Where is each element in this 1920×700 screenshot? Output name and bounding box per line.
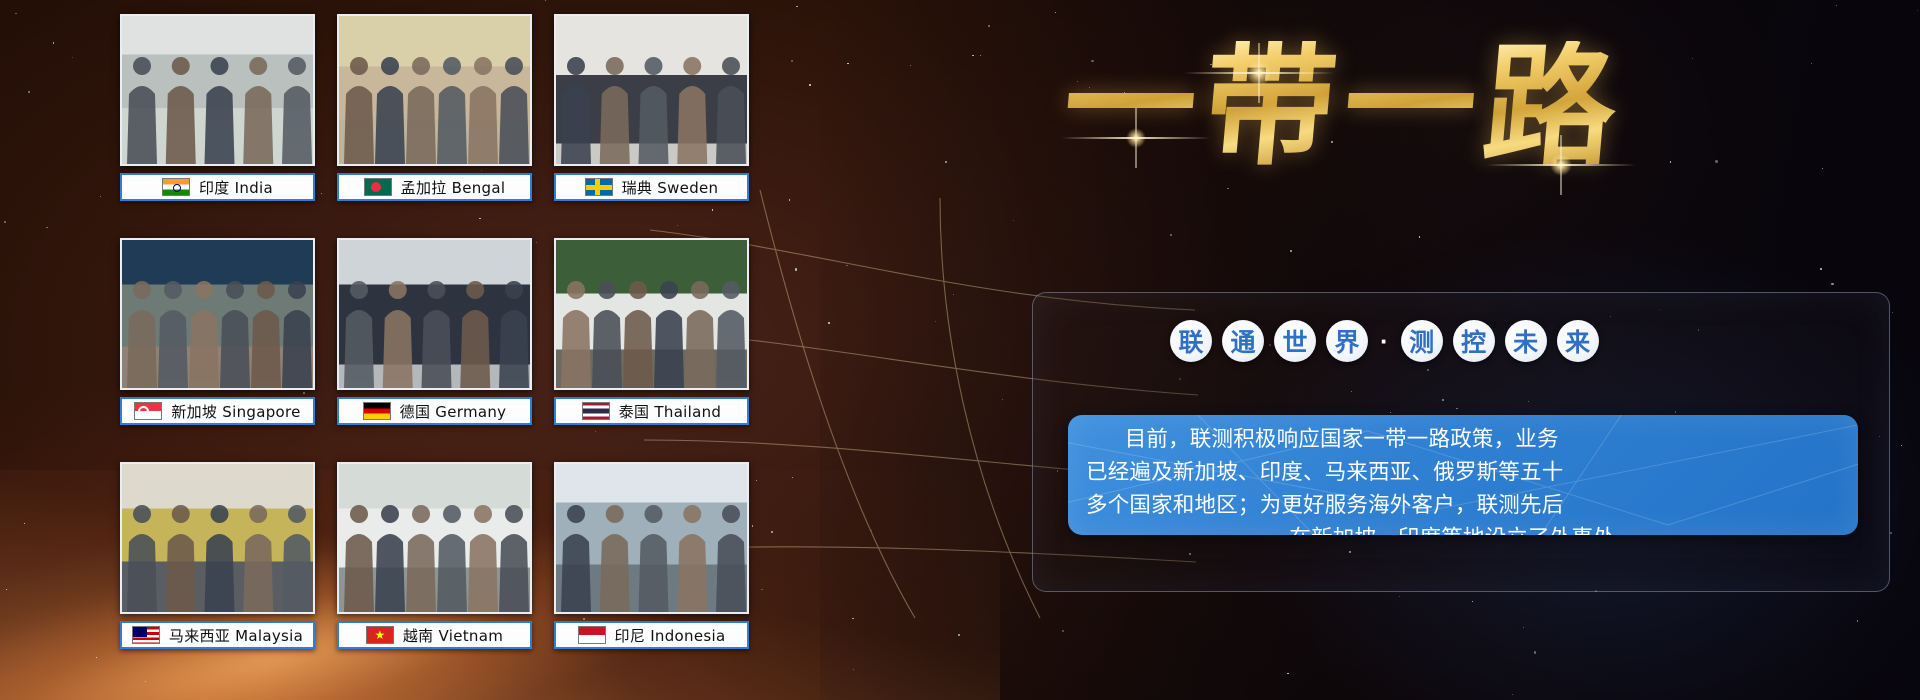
star — [791, 60, 793, 62]
sparkle-star-3 — [1550, 154, 1572, 176]
star — [100, 196, 101, 197]
group-photo-singapore — [120, 238, 315, 390]
star — [28, 91, 30, 93]
star — [1836, 5, 1837, 6]
photo-caption-bengal: 孟加拉 Bengal — [337, 173, 532, 201]
sparkle-star-2 — [1126, 128, 1146, 148]
photo-card-malaysia[interactable]: 马来西亚 Malaysia — [120, 462, 315, 672]
photo-image — [556, 16, 747, 164]
caption-label: 德国 Germany — [400, 401, 507, 422]
people-silhouettes — [339, 14, 532, 164]
group-photo-sweden — [554, 14, 749, 166]
slogan-char-3: 世 — [1274, 320, 1316, 362]
star — [1901, 445, 1903, 447]
star — [96, 657, 97, 658]
star — [847, 63, 849, 65]
photo-caption-vietnam: 越南 Vietnam — [337, 621, 532, 649]
star — [910, 65, 911, 66]
star — [1512, 694, 1513, 695]
photo-card-sweden[interactable]: 瑞典 Sweden — [554, 14, 749, 224]
people-silhouettes — [339, 462, 532, 612]
star — [972, 55, 973, 56]
title-char-1: 一 — [1058, 41, 1202, 173]
flag-vietnam-icon — [366, 626, 394, 644]
flag-thailand-icon — [582, 402, 610, 420]
caption-label: 新加坡 Singapore — [171, 401, 300, 422]
star — [1890, 532, 1892, 534]
description-line-2: 已经遍及新加坡、印度、马来西亚、俄罗斯等五十 — [1086, 456, 1840, 489]
caption-label: 印尼 Indonesia — [615, 625, 726, 646]
star — [53, 42, 54, 43]
people-silhouettes — [339, 238, 532, 388]
description-line-1: 目前，联测积极响应国家一带一路政策，业务 — [1086, 423, 1840, 456]
slogan-separator-dot: · — [1378, 326, 1391, 357]
star — [1062, 630, 1063, 631]
star — [1287, 673, 1288, 674]
star — [1170, 234, 1172, 236]
slogan-bar: 联通世界·测控未来 联通世界·测控未来 — [1170, 320, 1599, 362]
photo-caption-india: 印度 India — [120, 173, 315, 201]
group-photo-vietnam — [337, 462, 532, 614]
people-silhouettes — [556, 14, 749, 164]
star — [6, 589, 7, 590]
photo-image — [339, 240, 530, 388]
flag-bangladesh-icon — [364, 178, 392, 196]
star — [46, 227, 48, 229]
description-box: 目前，联测积极响应国家一带一路政策，业务已经遍及新加坡、印度、马来西亚、俄罗斯等… — [1068, 415, 1858, 535]
group-photo-india — [120, 14, 315, 166]
people-silhouettes — [122, 462, 315, 612]
star — [958, 634, 960, 636]
star — [15, 13, 17, 15]
star — [4, 221, 6, 223]
star — [1472, 601, 1473, 602]
people-silhouettes — [556, 238, 749, 388]
description-line-4: 在新加坡、印度等地设立了外事处。 — [1086, 522, 1840, 535]
belt-and-road-banner: 印度 India孟加拉 Bengal瑞典 Sweden新加坡 Singapore… — [0, 0, 1920, 700]
sparkle-star-1 — [1246, 60, 1272, 86]
star — [846, 265, 847, 266]
slogan-char-7: 控 — [1453, 320, 1495, 362]
photo-card-singapore[interactable]: 新加坡 Singapore — [120, 238, 315, 448]
star — [1013, 220, 1014, 221]
star — [1670, 161, 1672, 163]
star — [1831, 283, 1833, 285]
star — [1523, 627, 1524, 628]
star — [72, 57, 73, 58]
star — [1811, 63, 1813, 65]
slogan-char-4: 界 — [1326, 320, 1368, 362]
star — [1822, 168, 1823, 169]
flag-india-icon — [162, 178, 190, 196]
description-line-3: 多个国家和地区；为更好服务海外客户，联测先后 — [1086, 489, 1840, 522]
photo-card-germany[interactable]: 德国 Germany — [337, 238, 532, 448]
slogan-char-2: 通 — [1222, 320, 1264, 362]
photo-caption-sweden: 瑞典 Sweden — [554, 173, 749, 201]
photo-card-thailand[interactable]: 泰国 Thailand — [554, 238, 749, 448]
flag-germany-icon — [363, 402, 391, 420]
caption-label: 马来西亚 Malaysia — [169, 625, 303, 646]
star — [980, 55, 981, 56]
star — [988, 25, 990, 27]
photo-image — [339, 464, 530, 612]
caption-label: 孟加拉 Bengal — [401, 177, 506, 198]
star — [809, 84, 811, 86]
photo-caption-malaysia: 马来西亚 Malaysia — [120, 621, 315, 649]
star — [1534, 651, 1536, 653]
people-silhouettes — [556, 462, 749, 612]
flag-indonesia-icon — [578, 626, 606, 644]
flag-malaysia-icon — [132, 626, 160, 644]
group-photo-indonesia — [554, 462, 749, 614]
photo-caption-singapore: 新加坡 Singapore — [120, 397, 315, 425]
star — [24, 523, 25, 524]
caption-label: 越南 Vietnam — [403, 625, 503, 646]
group-photo-bengal — [337, 14, 532, 166]
description-text: 目前，联测积极响应国家一带一路政策，业务已经遍及新加坡、印度、马来西亚、俄罗斯等… — [1086, 423, 1840, 535]
caption-label: 泰国 Thailand — [619, 401, 722, 422]
star — [1715, 160, 1717, 162]
photo-image — [556, 464, 747, 612]
star — [789, 199, 791, 201]
star — [871, 530, 872, 531]
slogan-char-1: 联 — [1170, 320, 1212, 362]
star — [1692, 58, 1693, 59]
star — [828, 322, 830, 324]
photo-card-india[interactable]: 印度 India — [120, 14, 315, 224]
star — [796, 6, 797, 7]
title-char-2: 带 — [1198, 41, 1342, 173]
caption-label: 瑞典 Sweden — [622, 177, 719, 198]
photo-image — [122, 240, 313, 388]
page-title: 一带一路 — [1340, 107, 1341, 108]
star — [795, 268, 797, 270]
star — [1399, 596, 1400, 597]
people-silhouettes — [122, 14, 315, 164]
flag-singapore-icon — [134, 402, 162, 420]
star — [953, 294, 954, 295]
slogan-char-8: 未 — [1505, 320, 1547, 362]
caption-label: 印度 India — [199, 177, 273, 198]
title-char-4: 路 — [1478, 41, 1622, 173]
star — [945, 161, 947, 163]
group-photo-malaysia — [120, 462, 315, 614]
slogan-char-9: 来 — [1557, 320, 1599, 362]
photo-card-indonesia[interactable]: 印尼 Indonesia — [554, 462, 749, 672]
group-photo-germany — [337, 238, 532, 390]
star — [935, 321, 936, 322]
star — [852, 618, 854, 620]
photo-caption-germany: 德国 Germany — [337, 397, 532, 425]
star — [1892, 312, 1893, 313]
country-photo-grid: 印度 India孟加拉 Bengal瑞典 Sweden新加坡 Singapore… — [120, 14, 780, 686]
star — [853, 669, 854, 670]
star — [1917, 10, 1918, 11]
group-photo-thailand — [554, 238, 749, 390]
photo-caption-thailand: 泰国 Thailand — [554, 397, 749, 425]
page-title-calligraphy: 一带一路 一 带 一 路 — [1030, 12, 1650, 202]
title-char-3: 一 — [1338, 41, 1482, 173]
people-silhouettes — [122, 238, 315, 388]
photo-image — [122, 464, 313, 612]
photo-image — [339, 16, 530, 164]
flag-sweden-icon — [585, 178, 613, 196]
slogan-char-6: 测 — [1401, 320, 1443, 362]
photo-image — [556, 240, 747, 388]
star — [1419, 236, 1420, 237]
photo-image — [122, 16, 313, 164]
star — [1820, 268, 1822, 270]
star — [1002, 399, 1003, 400]
photo-card-bengal[interactable]: 孟加拉 Bengal — [337, 14, 532, 224]
photo-caption-indonesia: 印尼 Indonesia — [554, 621, 749, 649]
star — [545, 0, 546, 1]
star — [1290, 250, 1292, 252]
star — [792, 477, 793, 478]
star — [1857, 620, 1858, 621]
photo-card-vietnam[interactable]: 越南 Vietnam — [337, 462, 532, 672]
